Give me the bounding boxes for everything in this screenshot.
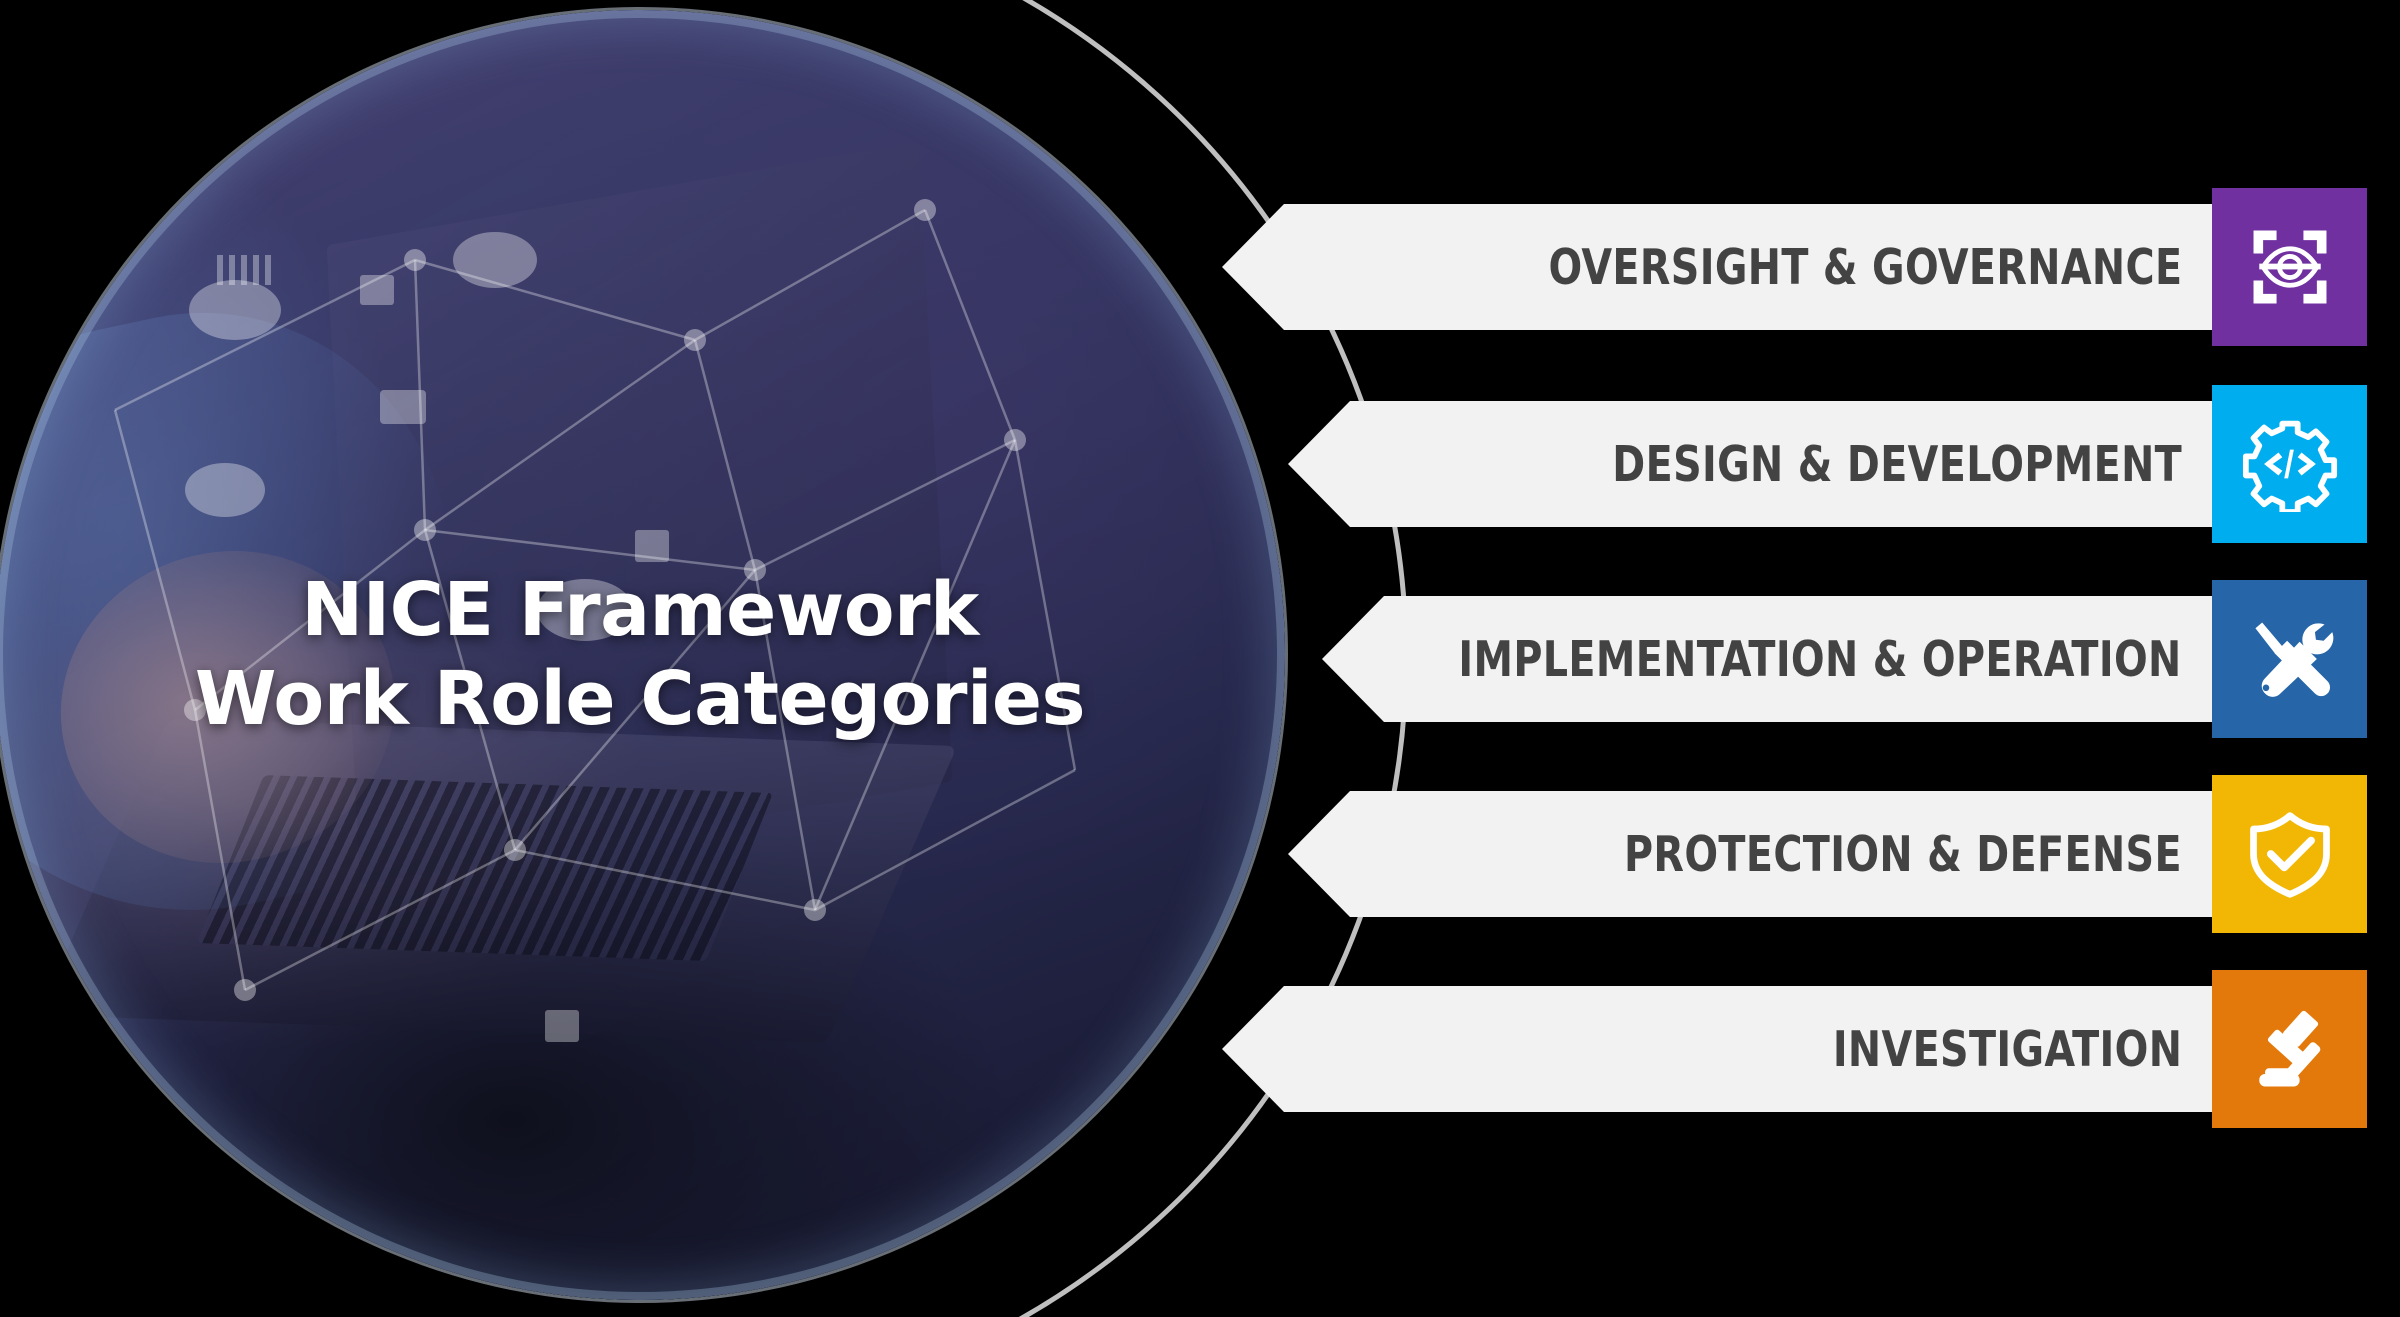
category-icon-tile[interactable] [2212,580,2367,738]
category-row-design-development[interactable]: DESIGN & DEVELOPMENT [1288,385,2366,543]
category-row-oversight-governance[interactable]: OVERSIGHT & GOVERNANCE [1222,188,2366,346]
eye-scan-icon [2242,219,2338,315]
category-label: PROTECTION & DEFENSE [1624,826,2182,883]
category-icon-tile[interactable] [2212,775,2367,933]
category-icon-tile[interactable] [2212,188,2367,346]
shield-check-icon [2242,806,2338,902]
medallion-title: NICE Framework Work Role Categories [0,566,1285,744]
category-row-implementation-operation[interactable]: IMPLEMENTATION & OPERATION [1322,580,2366,738]
category-label: INVESTIGATION [1833,1021,2182,1078]
medallion-circle: NICE Framework Work Role Categories [0,10,1285,1300]
gavel-icon [2242,1001,2338,1097]
category-icon-tile[interactable] [2212,970,2367,1128]
category-label: IMPLEMENTATION & OPERATION [1459,631,2182,688]
banner-plate[interactable]: INVESTIGATION [1222,986,2216,1112]
category-row-investigation[interactable]: INVESTIGATION [1222,970,2366,1128]
banner-plate[interactable]: DESIGN & DEVELOPMENT [1288,401,2216,527]
wrench-screwdriver-icon [2242,611,2338,707]
category-label: OVERSIGHT & GOVERNANCE [1548,239,2182,296]
gear-code-icon [2242,416,2338,512]
banner-plate[interactable]: OVERSIGHT & GOVERNANCE [1222,204,2216,330]
infographic-canvas: NICE Framework Work Role Categories OVER… [0,0,2400,1317]
banner-plate[interactable]: IMPLEMENTATION & OPERATION [1322,596,2216,722]
category-icon-tile[interactable] [2212,385,2367,543]
category-row-protection-defense[interactable]: PROTECTION & DEFENSE [1288,775,2366,933]
banner-plate[interactable]: PROTECTION & DEFENSE [1288,791,2216,917]
category-label: DESIGN & DEVELOPMENT [1612,436,2182,493]
